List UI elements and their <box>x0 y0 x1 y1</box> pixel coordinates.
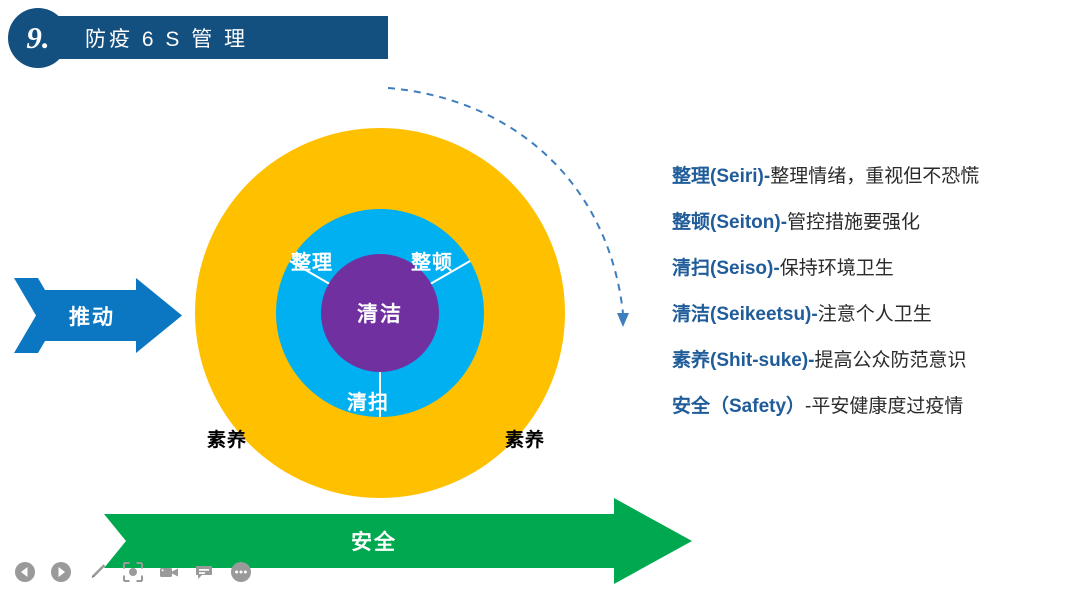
more-options-icon[interactable] <box>230 561 252 583</box>
segment-label-seiso: 清扫 <box>347 386 389 415</box>
slide-canvas: 9. 防疫 6 S 管 理 整理 整顿 清扫 清洁 素养 素养 推动 安全 <box>0 0 1080 597</box>
list-item: 清洁(Seikeetsu)-注意个人卫生 <box>672 304 1072 326</box>
previous-icon[interactable] <box>14 561 36 583</box>
header-number: 9. <box>8 8 68 68</box>
pen-icon[interactable] <box>86 561 108 583</box>
play-icon[interactable] <box>50 561 72 583</box>
six-s-description-list: 整理(Seiri)-整理情绪，重视但不恐慌 整顿(Seiton)-管控措施要强化… <box>672 166 1072 442</box>
laser-pointer-icon[interactable] <box>122 561 144 583</box>
list-item: 整顿(Seiton)-管控措施要强化 <box>672 212 1072 234</box>
caption-icon[interactable] <box>194 561 216 583</box>
list-item: 素养(Shit-suke)-提高公众防范意识 <box>672 350 1072 372</box>
list-item-desc: -平安健康度过疫情 <box>805 396 963 417</box>
list-item: 清扫(Seiso)-保持环境卫生 <box>672 258 1072 280</box>
push-arrow-label: 推动 <box>14 276 170 355</box>
presentation-toolbar[interactable] <box>14 561 252 583</box>
list-item-desc: 注意个人卫生 <box>818 304 932 325</box>
list-item-term: 整顿(Seiton)- <box>672 212 787 233</box>
list-item-term: 安全（Safety） <box>672 396 805 417</box>
list-item: 整理(Seiri)-整理情绪，重视但不恐慌 <box>672 166 1072 188</box>
list-item: 安全（Safety）-平安健康度过疫情 <box>672 396 1072 418</box>
list-item-term: 清洁(Seikeetsu)- <box>672 304 818 325</box>
list-item-desc: 提高公众防范意识 <box>815 350 967 371</box>
list-item-desc: 保持环境卫生 <box>780 258 894 279</box>
list-item-desc: 管控措施要强化 <box>787 212 920 233</box>
outer-ring-label-right: 素养 <box>505 425 545 452</box>
outer-ring-label-left: 素养 <box>207 425 247 452</box>
list-item-term: 素养(Shit-suke)- <box>672 350 815 371</box>
dashed-curved-arrow-icon <box>370 70 650 350</box>
page-title: 防疫 6 S 管 理 <box>85 17 248 58</box>
list-item-desc: 整理情绪，重视但不恐慌 <box>770 166 979 187</box>
list-item-term: 整理(Seiri)- <box>672 166 770 187</box>
list-item-term: 清扫(Seiso)- <box>672 258 780 279</box>
video-camera-icon[interactable] <box>158 561 180 583</box>
